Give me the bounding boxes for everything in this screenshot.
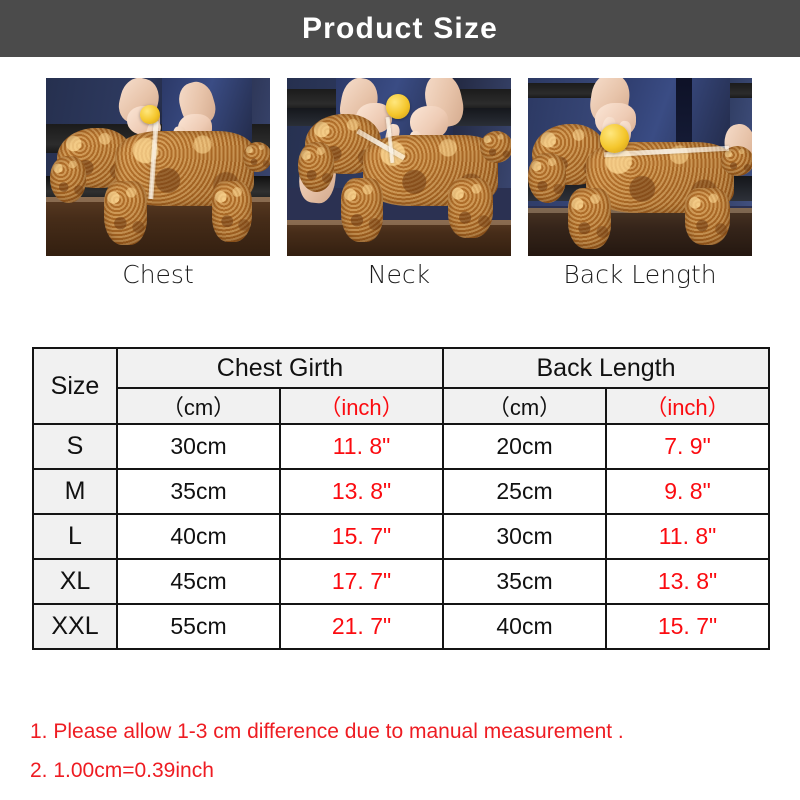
table-row: XL 45cm 17. 7" 35cm 13. 8" (33, 559, 769, 604)
row-size: L (33, 514, 117, 559)
row-back-inch: 15. 7" (606, 604, 769, 649)
table-row: S 30cm 11. 8" 20cm 7. 9" (33, 424, 769, 469)
photo-dog-tail (480, 131, 511, 163)
header-size: Size (33, 348, 117, 424)
row-back-cm: 40cm (443, 604, 606, 649)
row-chest-cm: 30cm (117, 424, 280, 469)
row-back-cm: 35cm (443, 559, 606, 604)
note-line-1: 1. Please allow 1-3 cm difference due to… (30, 712, 770, 751)
header-chest-inch: （inch） (280, 388, 443, 424)
header-back-length: Back Length (443, 348, 769, 388)
size-chart-table: Size Chest Girth Back Length （cm） （inch）… (32, 347, 770, 650)
table-row: M 35cm 13. 8" 25cm 9. 8" (33, 469, 769, 514)
row-back-inch: 11. 8" (606, 514, 769, 559)
photo-person-tie (676, 78, 692, 149)
photo-dog-hind-leg (685, 188, 730, 245)
photo-dog-hind-leg (212, 181, 252, 242)
table-header-unit-row: （cm） （inch） （cm） （inch） (33, 388, 769, 424)
photo-back-length (528, 78, 752, 256)
header-chest-girth: Chest Girth (117, 348, 443, 388)
header-back-inch: （inch） (606, 388, 769, 424)
row-back-inch: 9. 8" (606, 469, 769, 514)
tape-reel-icon (386, 94, 411, 119)
row-chest-cm: 35cm (117, 469, 280, 514)
tape-reel-icon (600, 124, 629, 152)
table-row: L 40cm 15. 7" 30cm 11. 8" (33, 514, 769, 559)
photo-dog-front-leg (104, 181, 147, 245)
row-back-cm: 20cm (443, 424, 606, 469)
row-size: S (33, 424, 117, 469)
row-back-cm: 25cm (443, 469, 606, 514)
note-line-2: 2. 1.00cm=0.39inch (30, 751, 770, 790)
row-chest-inch: 11. 8" (280, 424, 443, 469)
photo-dog-front-leg (568, 188, 611, 249)
caption-neck: Neck (287, 258, 511, 298)
row-back-cm: 30cm (443, 514, 606, 559)
caption-back-length: Back Length (528, 258, 752, 298)
photo-dog-front-leg (341, 178, 384, 242)
table-row: XXL 55cm 21. 7" 40cm 15. 7" (33, 604, 769, 649)
row-chest-inch: 21. 7" (280, 604, 443, 649)
row-back-inch: 13. 8" (606, 559, 769, 604)
row-chest-cm: 40cm (117, 514, 280, 559)
row-size: XL (33, 559, 117, 604)
table-header-group-row: Size Chest Girth Back Length (33, 348, 769, 388)
row-chest-cm: 45cm (117, 559, 280, 604)
photo-dog-hind-leg (448, 178, 493, 239)
photo-dog-tail (243, 142, 270, 172)
photo-caption-row: Chest Neck Back Length (46, 258, 752, 298)
row-chest-cm: 55cm (117, 604, 280, 649)
row-chest-inch: 15. 7" (280, 514, 443, 559)
photo-dog-ear (528, 153, 566, 203)
measurement-photo-row (46, 78, 752, 256)
row-back-inch: 7. 9" (606, 424, 769, 469)
page-title: Product Size (302, 12, 498, 46)
measurement-notes: 1. Please allow 1-3 cm difference due to… (30, 712, 770, 790)
row-chest-inch: 13. 8" (280, 469, 443, 514)
row-size: XXL (33, 604, 117, 649)
caption-chest: Chest (46, 258, 270, 298)
photo-neck (287, 78, 511, 256)
photo-dog-ear (298, 142, 334, 192)
header-chest-cm: （cm） (117, 388, 280, 424)
header-back-cm: （cm） (443, 388, 606, 424)
row-chest-inch: 17. 7" (280, 559, 443, 604)
row-size: M (33, 469, 117, 514)
photo-dog-ear (50, 156, 86, 202)
photo-chest (46, 78, 270, 256)
page-header-bar: Product Size (0, 0, 800, 57)
